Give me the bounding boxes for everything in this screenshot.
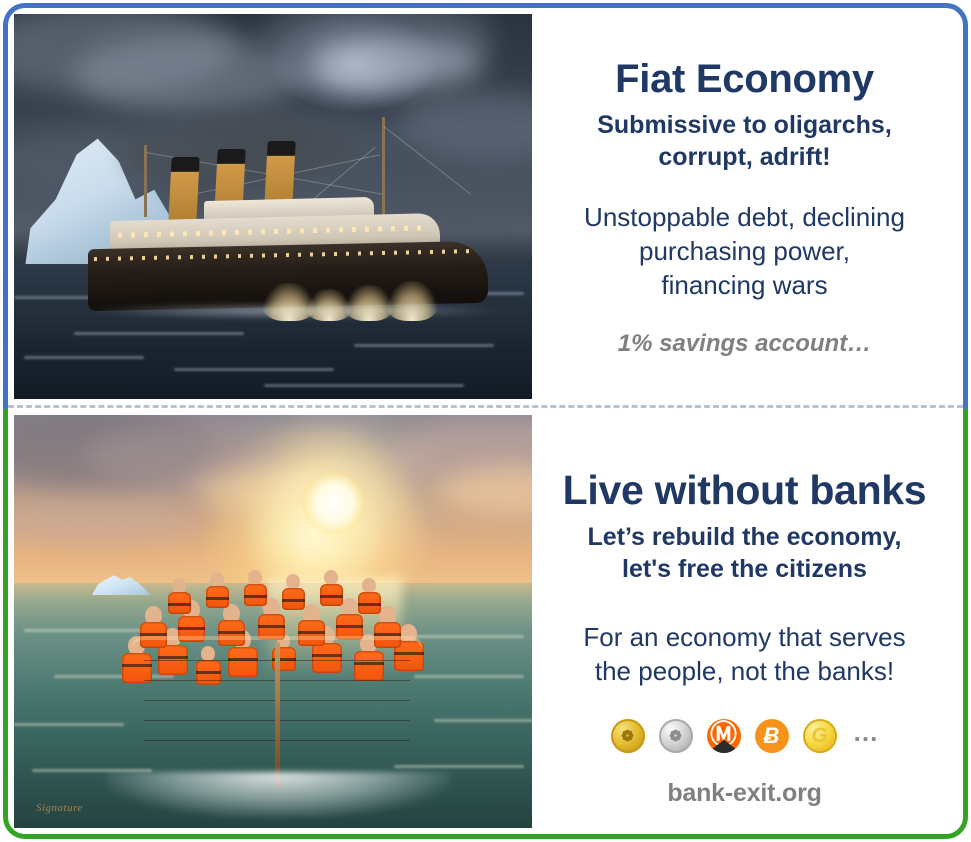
silver-coin-icon: ❁ — [659, 719, 693, 753]
wave — [354, 344, 494, 347]
panel-divider — [8, 405, 963, 408]
silver-coin-glyph: ❁ — [669, 727, 682, 745]
bitcoin-coin-glyph: Ƀ — [764, 723, 780, 749]
top-subhead-line2: corrupt, adrift! — [597, 142, 892, 174]
foremast — [144, 145, 147, 217]
savings-note: 1% savings account… — [618, 330, 871, 358]
top-headline: Fiat Economy — [615, 58, 874, 100]
gold-coin-glyph: ❁ — [621, 727, 634, 745]
top-panel: Fiat Economy Submissive to oligarchs, co… — [14, 14, 957, 399]
wave — [264, 384, 464, 387]
artist-signature: Signature — [36, 802, 83, 814]
top-subhead: Submissive to oligarchs, corrupt, adrift… — [597, 110, 892, 173]
top-body-line2: purchasing power, — [584, 235, 905, 269]
g1-june-coin-icon: G — [803, 719, 837, 753]
g1-june-coin-glyph: G — [811, 724, 827, 748]
bottom-body-line2: the people, not the banks! — [583, 655, 905, 689]
mainmast — [382, 117, 385, 227]
wave — [74, 332, 244, 335]
monero-coin-icon: Ⓜ — [707, 719, 741, 753]
monero-coin-glyph: Ⓜ — [710, 719, 737, 753]
top-copy: Fiat Economy Submissive to oligarchs, co… — [532, 14, 957, 399]
bottom-copy: Live without banks Let’s rebuild the eco… — [532, 415, 957, 828]
poster-root: Fiat Economy Submissive to oligarchs, co… — [0, 0, 971, 842]
light-splash — [386, 281, 438, 321]
titanic-artwork — [14, 14, 532, 399]
bow-stem — [275, 642, 280, 788]
gold-coin-icon: ❁ — [611, 719, 645, 753]
funnel — [264, 141, 295, 207]
currency-icon-row: ❁❁ⓂɃG… — [611, 719, 879, 753]
wave — [14, 723, 124, 726]
lifeboat-artwork: Signature — [14, 415, 532, 828]
bottom-headline: Live without banks — [563, 469, 927, 512]
bottom-body-line1: For an economy that serves — [583, 621, 905, 655]
top-body-line3: financing wars — [584, 269, 905, 303]
bottom-subhead-line1: Let’s rebuild the economy, — [588, 522, 902, 554]
bottom-body: For an economy that serves the people, n… — [583, 621, 905, 689]
bottom-subhead: Let’s rebuild the economy, let's free th… — [588, 522, 902, 585]
wave — [434, 719, 532, 722]
bow-wake — [106, 772, 450, 818]
website-link[interactable]: bank-exit.org — [667, 779, 821, 808]
top-body-line1: Unstoppable debt, declining — [584, 201, 905, 235]
coins-ellipsis: … — [853, 719, 879, 745]
wave — [394, 765, 524, 768]
wave — [24, 356, 144, 359]
wave — [174, 368, 334, 371]
bitcoin-coin-icon: Ƀ — [755, 719, 789, 753]
cloud-shape — [314, 38, 484, 90]
bottom-panel: Signature Live without banks Let’s rebui… — [14, 415, 957, 828]
top-subhead-line1: Submissive to oligarchs, — [597, 110, 892, 142]
top-body: Unstoppable debt, declining purchasing p… — [584, 201, 905, 302]
sun — [302, 471, 366, 535]
funnel — [168, 157, 199, 223]
bottom-subhead-line2: let's free the citizens — [588, 554, 902, 586]
